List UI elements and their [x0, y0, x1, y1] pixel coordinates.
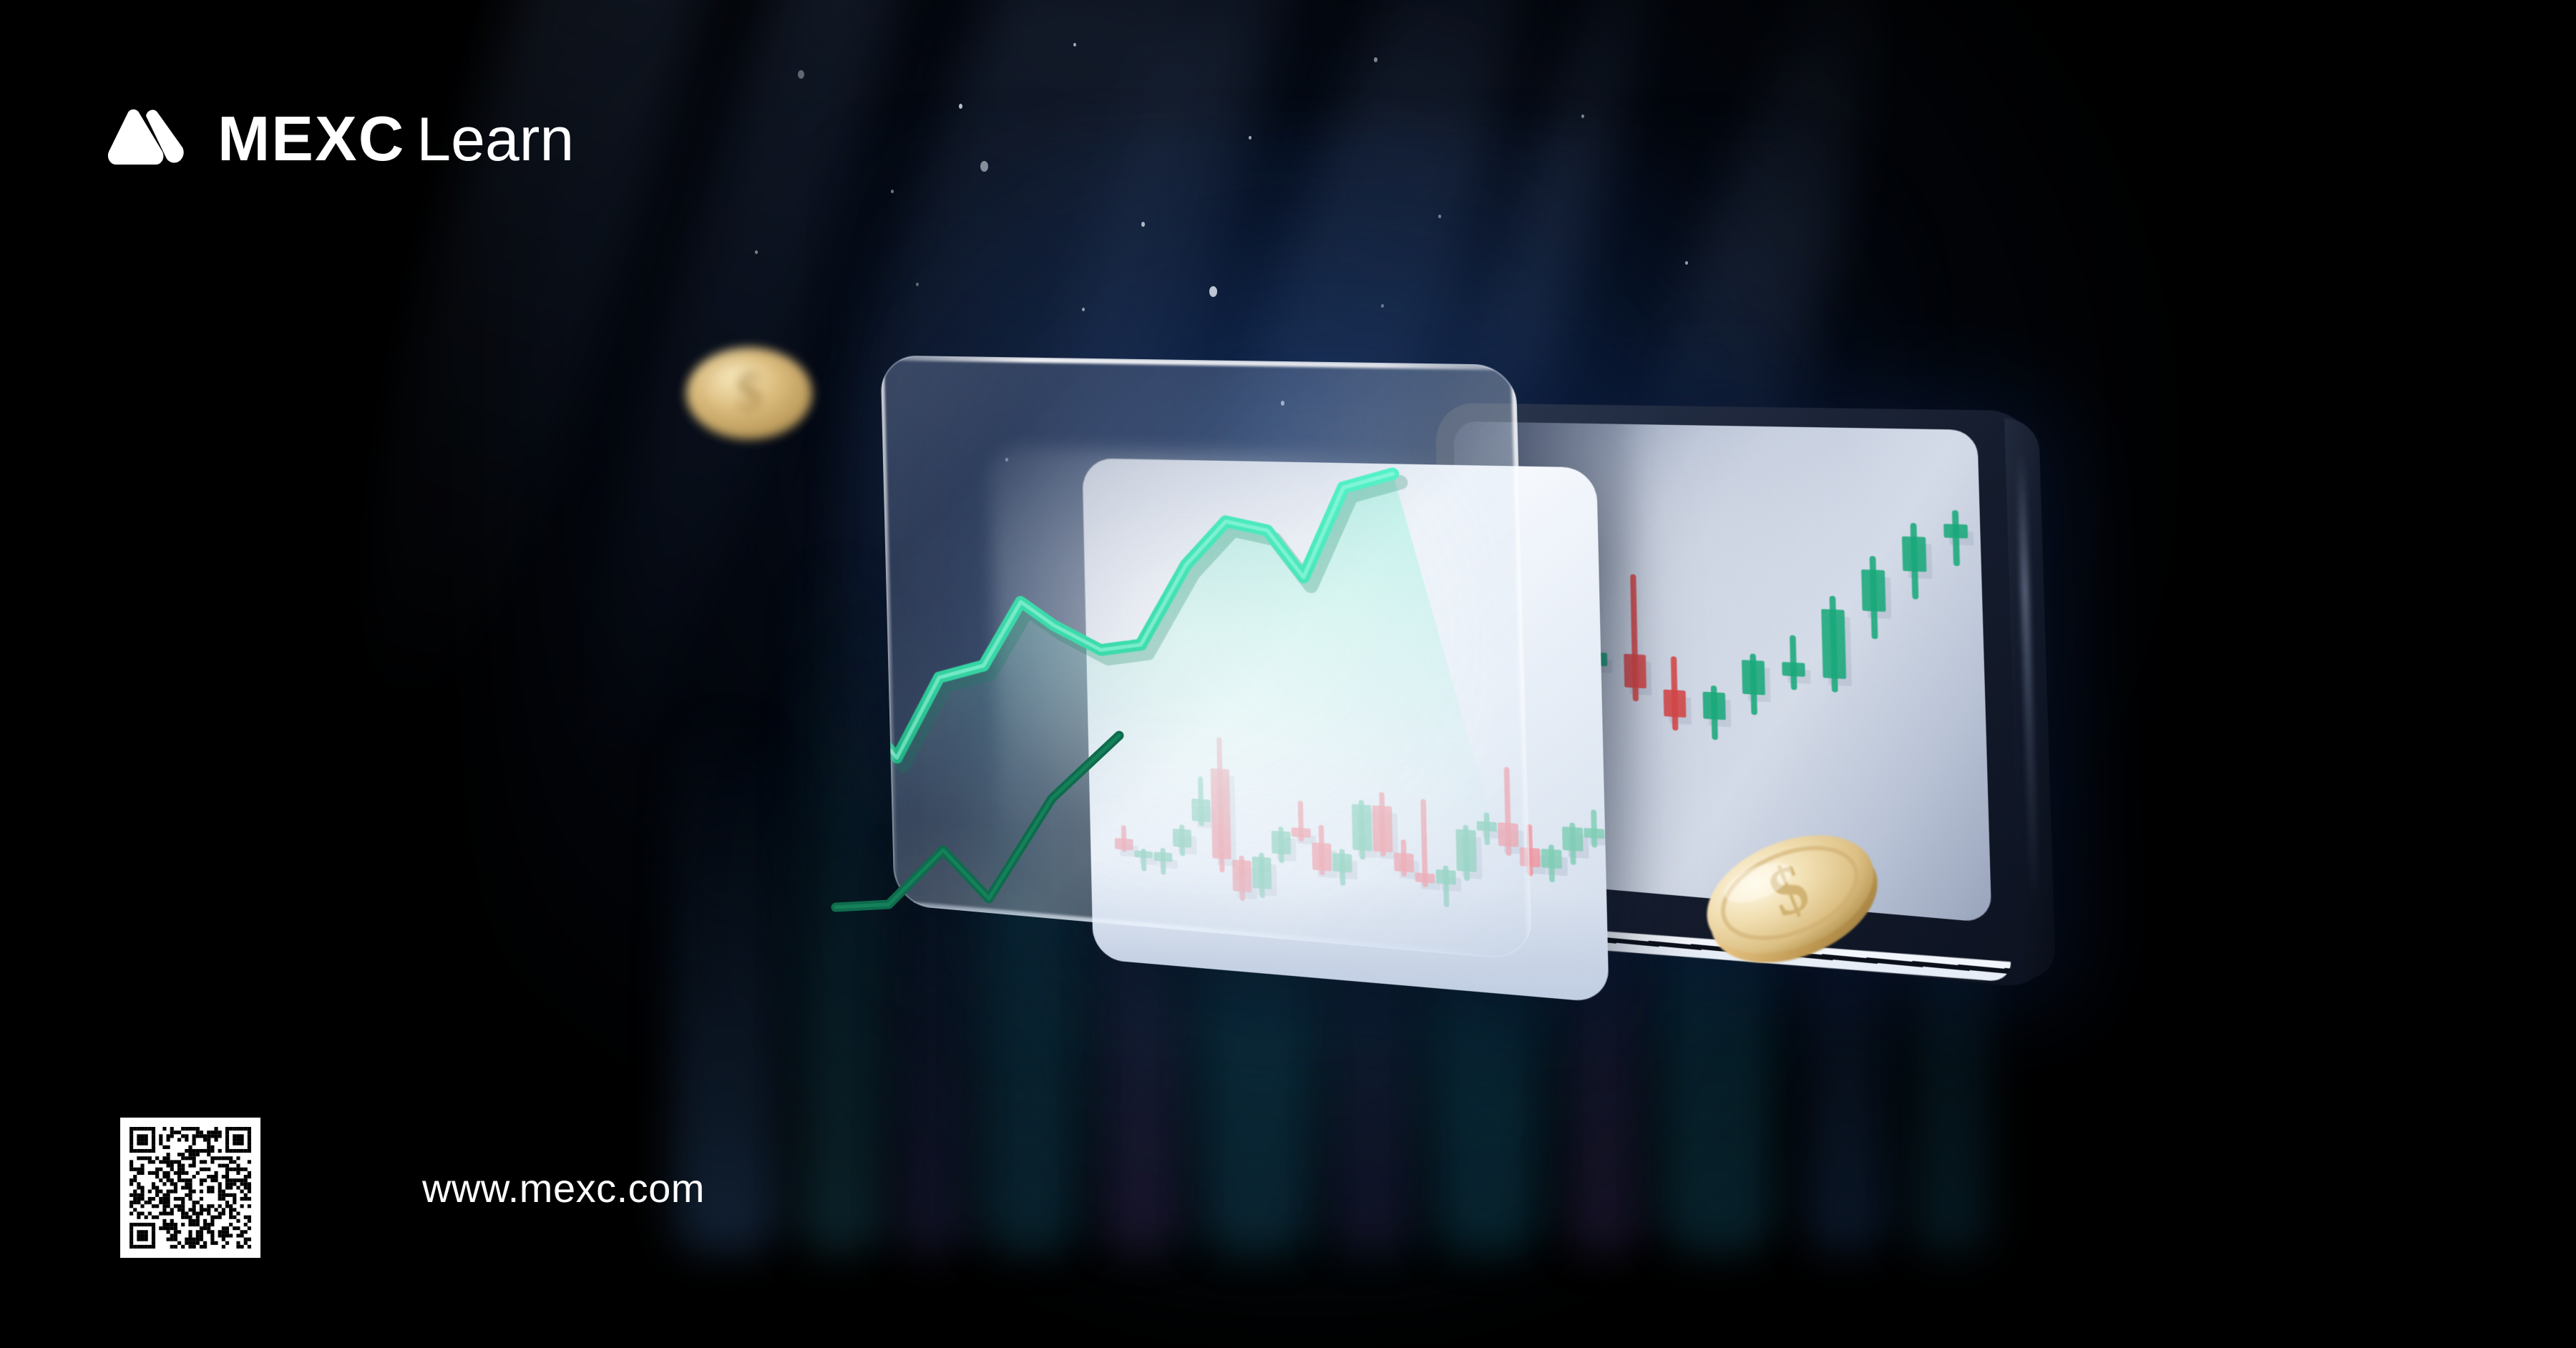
particle-dot — [1438, 215, 1441, 218]
particle-dot — [1082, 308, 1085, 311]
particle-dot — [959, 104, 962, 109]
brand-wordmark: MEXC Learn — [218, 107, 574, 170]
particle-dot — [891, 190, 894, 193]
particle-dot — [1141, 222, 1145, 227]
line-chart-tail-outside-glass — [823, 730, 1123, 916]
particle-dot — [980, 161, 988, 172]
coin-dollar-icon: $ — [1696, 816, 1885, 973]
particle-dot — [1381, 304, 1384, 308]
brand-name: MEXC — [218, 107, 405, 170]
footer: www.mexc.com — [120, 1118, 705, 1258]
gold-coin-bottom-right: $ — [1696, 816, 1885, 973]
qr-code-matrix — [130, 1127, 251, 1249]
qr-code-icon[interactable] — [120, 1118, 260, 1258]
mexc-mountain-icon — [106, 107, 193, 170]
particle-dot — [1685, 261, 1688, 265]
particle-dot — [798, 70, 804, 79]
brand-logo[interactable]: MEXC Learn — [106, 107, 574, 170]
scene-stage: $ $ — [0, 0, 2576, 1348]
particle-dot — [755, 250, 758, 254]
particle-dot — [1073, 43, 1076, 47]
coin-dollar-icon: $ — [681, 343, 817, 444]
particle-dot — [1374, 57, 1377, 62]
gold-coin-top-left: $ — [681, 343, 817, 444]
svg-text:$: $ — [736, 363, 763, 421]
particle-dot — [1209, 286, 1217, 297]
particle-dot — [1581, 114, 1584, 118]
website-url[interactable]: www.mexc.com — [422, 1165, 705, 1211]
brand-product: Learn — [416, 109, 574, 170]
particle-dot — [1249, 136, 1252, 140]
particle-dot — [916, 283, 919, 286]
